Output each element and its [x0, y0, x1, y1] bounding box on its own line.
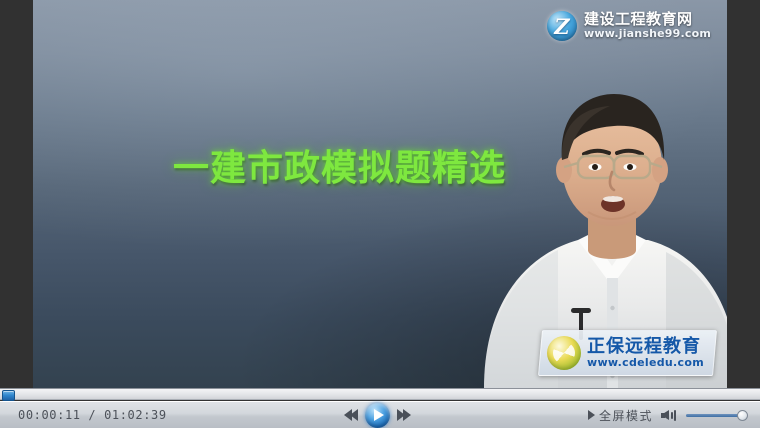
play-button[interactable] [365, 403, 390, 428]
volume-slider[interactable] [686, 408, 748, 422]
cdeledu-logo-icon [547, 336, 581, 370]
video-stage[interactable]: 一建市政模拟题精选 建设工程教育网 www.jianshe99.com 正保远程… [0, 0, 760, 388]
control-bar: 00:00:11 / 01:02:39 全屏模式 [0, 401, 760, 428]
fullscreen-button[interactable]: 全屏模式 [588, 407, 653, 424]
volume-track[interactable] [686, 414, 741, 417]
rewind-button[interactable] [344, 409, 358, 421]
volume-handle[interactable] [737, 410, 748, 421]
brand-watermark-bottom: 正保远程教育 www.cdeledu.com [538, 330, 717, 376]
volume-icon[interactable] [661, 408, 678, 422]
progress-track[interactable] [0, 390, 760, 399]
brand-bottom-name: 正保远程教育 [587, 338, 704, 357]
letterbox-left [0, 0, 33, 388]
brand-top-url: www.jianshe99.com [584, 28, 711, 40]
letterbox-right [727, 0, 760, 388]
play-triangle-icon [588, 410, 595, 420]
right-controls: 全屏模式 [588, 407, 748, 424]
video-player: 一建市政模拟题精选 建设工程教育网 www.jianshe99.com 正保远程… [0, 0, 760, 428]
brand-top-name: 建设工程教育网 [584, 12, 711, 28]
brand-top-text: 建设工程教育网 www.jianshe99.com [584, 12, 711, 40]
jianshe-logo-icon [547, 11, 577, 41]
progress-bar[interactable] [0, 388, 760, 400]
video-title-overlay: 一建市政模拟题精选 [173, 139, 506, 191]
fast-forward-button[interactable] [397, 409, 411, 421]
brand-bottom-url: www.cdeledu.com [587, 357, 704, 369]
fullscreen-label: 全屏模式 [599, 407, 653, 424]
video-frame: 一建市政模拟题精选 建设工程教育网 www.jianshe99.com 正保远程… [33, 0, 727, 388]
transport-controls [344, 403, 411, 428]
brand-watermark-top: 建设工程教育网 www.jianshe99.com [543, 8, 717, 44]
time-display: 00:00:11 / 01:02:39 [18, 408, 167, 422]
rewind-icon-2 [350, 409, 358, 421]
fast-forward-icon-2 [403, 409, 411, 421]
brand-bottom-text: 正保远程教育 www.cdeledu.com [587, 338, 704, 368]
progress-handle[interactable] [2, 390, 15, 401]
